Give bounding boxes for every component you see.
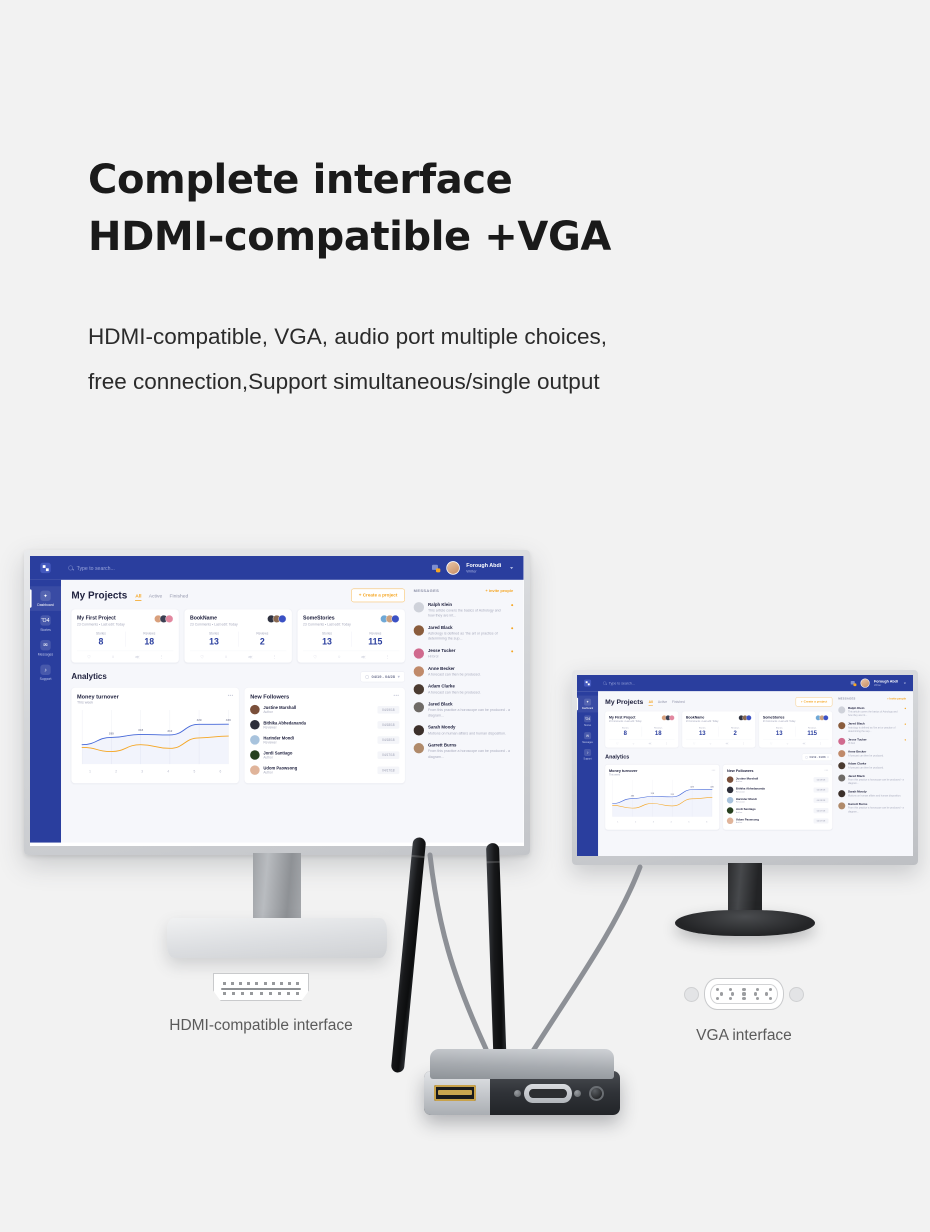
sidebar-item-label: Messages	[582, 740, 593, 743]
message-row[interactable]: Jared Black From this practice a horosco…	[414, 699, 514, 722]
message-preview: From this practice a horoscope can be pr…	[848, 778, 906, 785]
message-sender: Garrett Burns	[848, 802, 906, 805]
avatar	[414, 702, 424, 712]
date-range-value: 04/19 - 04/28	[371, 675, 394, 679]
message-preview: Motions on human affairs and human dispo…	[428, 731, 513, 736]
message-preview: This article covers the basics of Astrol…	[848, 710, 902, 717]
heart-icon[interactable]: ♡	[763, 742, 779, 746]
message-sender: Ralph Klein	[848, 706, 902, 709]
message-row[interactable]: Jared Black From this practice a horosco…	[838, 772, 906, 788]
adapter-audio-port	[589, 1086, 604, 1101]
sidebar-item-label: Messages	[38, 652, 53, 656]
project-card[interactable]: BookName 23 Comments • Last edit: Today …	[682, 711, 755, 747]
sidebar-item-dashboard[interactable]: ✦ Dashboard	[577, 696, 598, 713]
new-followers-panel: ••• New Followers Justine Marshall Autho…	[723, 765, 832, 830]
app-logo-icon[interactable]	[584, 680, 591, 687]
avatar	[391, 615, 399, 623]
message-preview: Hi bro!	[428, 654, 507, 659]
hdmi-divider-bar	[221, 988, 301, 990]
message-sender: Sarah Moody	[848, 790, 906, 793]
follower-role: Author	[263, 771, 297, 775]
sidebar-item-support[interactable]: ♪ Support	[30, 660, 61, 685]
follower-row[interactable]: Jordi Santiago Author 04/17/18	[250, 747, 399, 762]
document-icon: Ὄ4	[584, 715, 591, 722]
stat-label: Stories	[77, 632, 125, 636]
envelope-icon: ✉	[40, 640, 50, 650]
message-row[interactable]: Jared Black Astrology is defined as 'the…	[414, 622, 514, 645]
followers-title: New Followers	[727, 768, 829, 772]
project-meta: 23 Comments • Last edit: Today	[763, 720, 796, 723]
avatar	[414, 743, 424, 753]
project-meta: 23 Comments • Last edit: Today	[77, 622, 125, 626]
follower-role: Reviewer	[263, 740, 294, 744]
app-logo-icon[interactable]	[40, 563, 50, 573]
chart-title: Money turnover	[77, 693, 234, 699]
message-row[interactable]: Jesse Tucker Hi bro!	[838, 735, 906, 747]
message-preview: From this practice a horoscope can be pr…	[848, 806, 906, 813]
project-stat: Stories 13	[303, 632, 351, 647]
follower-date: 04/17/18	[377, 766, 399, 774]
subcopy-line-1: HDMI-compatible, VGA, audio port multipl…	[88, 315, 607, 360]
chart-point-label: 430	[710, 785, 713, 787]
sidebar-item-label: Stories	[40, 627, 51, 631]
project-stat: Reviews 115	[351, 632, 399, 647]
follower-row[interactable]: Bithika Abhedananda Reviewer 04/18/18	[727, 785, 829, 795]
avatar	[165, 615, 173, 623]
message-sender: Jared Black	[428, 702, 513, 707]
date-range-picker[interactable]: 04/19 - 04/28 ▾	[360, 671, 405, 682]
avatar	[250, 720, 260, 730]
messages-panel: MESSAGES + Invite people Ralph Klein Thi…	[838, 697, 906, 856]
project-name: BookName	[686, 715, 719, 719]
unread-badge	[905, 739, 906, 740]
project-name: SomeStories	[763, 715, 796, 719]
comment-icon[interactable]: ○	[214, 654, 238, 659]
x-tick-label: 5	[193, 770, 195, 774]
stat-label: Reviews	[719, 726, 752, 728]
vga-callout: VGA interface	[655, 977, 833, 1045]
follower-date: 04/18/18	[814, 798, 829, 803]
stat-value: 115	[796, 730, 829, 737]
stat-value: 115	[351, 636, 399, 646]
adapter-hdmi-port	[434, 1085, 476, 1101]
search-icon	[603, 682, 606, 685]
follower-date: 04/17/18	[814, 818, 829, 823]
user-role: Writer	[874, 684, 898, 687]
page-title: My Projects	[605, 698, 643, 706]
invite-people-button[interactable]: + Invite people	[485, 589, 513, 593]
follower-row[interactable]: Jordi Santiago Author 04/17/18	[727, 805, 829, 815]
stat-value: 8	[609, 730, 642, 737]
follower-date: 04/18/18	[377, 736, 399, 744]
share-icon[interactable]: ≪	[125, 654, 149, 659]
chart-point-label: 318	[651, 792, 654, 794]
project-meta: 23 Comments • Last edit: Today	[686, 720, 719, 723]
message-preview: This article covers the basics of Astrol…	[428, 608, 507, 618]
chart-point-label: 285	[631, 794, 634, 796]
more-icon[interactable]: ⋮	[262, 654, 286, 659]
message-row[interactable]: Anne Becker A forecast can then be produ…	[838, 748, 906, 760]
headline-line-2: HDMI-compatible +VGA	[88, 209, 611, 266]
avatar	[727, 787, 734, 794]
search-input[interactable]: Type to search...	[603, 681, 635, 685]
vga-screw-left	[514, 1090, 521, 1097]
dashboard-sidebar: ✦ Dashboard Ὄ4 Stories ✉ Messages ♪ Supp…	[30, 580, 61, 843]
more-icon[interactable]: ⋮	[735, 742, 751, 746]
envelope-icon: ✉	[584, 732, 591, 739]
sidebar-item-support[interactable]: ♪ Support	[577, 746, 598, 763]
tab-all[interactable]: All	[649, 700, 653, 705]
project-stat: Stories 13	[190, 632, 238, 647]
monitor-base	[167, 918, 387, 958]
create-project-button[interactable]: + Create a project	[796, 697, 833, 706]
search-input[interactable]: Type to search...	[68, 565, 115, 571]
more-icon[interactable]: •••	[712, 768, 716, 771]
message-row[interactable]: Jesse Tucker Hi bro!	[414, 645, 514, 663]
heart-icon[interactable]: ♡	[686, 742, 702, 746]
message-row[interactable]: Garrett Burns From this practice a horos…	[414, 740, 514, 763]
project-stat: Stories 13	[686, 726, 719, 736]
notifications-icon[interactable]	[851, 680, 856, 685]
message-preview: From this practice a horoscope can be pr…	[428, 749, 513, 759]
message-sender: Sarah Moody	[428, 725, 513, 730]
vga-pin-row-1	[716, 988, 772, 991]
avatar	[414, 725, 424, 735]
avatar	[414, 666, 424, 676]
invite-people-button[interactable]: + Invite people	[887, 697, 906, 700]
chart-point-label: 429	[197, 718, 202, 722]
project-tabs: AllActiveFinished	[649, 700, 685, 705]
comment-icon[interactable]: ○	[779, 742, 795, 746]
headset-icon: ♪	[40, 664, 50, 674]
money-turnover-chart: ••• Money turnover This week 28531831242…	[71, 688, 239, 784]
subcopy-block: HDMI-compatible, VGA, audio port multipl…	[88, 315, 607, 404]
sidebar-item-dashboard[interactable]: ✦ Dashboard	[30, 586, 61, 611]
monitor-neck	[253, 853, 301, 925]
message-preview: A forecast can then be produced.	[428, 672, 513, 677]
message-row[interactable]: Adam Clarke A forecast can then be produ…	[838, 760, 906, 772]
money-turnover-chart: ••• Money turnover This week 28531831242…	[605, 765, 719, 830]
hdmi-callout-label: HDMI-compatible interface	[136, 1017, 386, 1035]
more-icon[interactable]: ⋮	[149, 654, 173, 659]
follower-row[interactable]: Udom Paowsong Author 04/17/18	[250, 763, 399, 778]
sidebar-item-messages[interactable]: ✉ Messages	[577, 729, 598, 746]
stat-label: Reviews	[238, 632, 286, 636]
follower-row[interactable]: Justine Marshall Author 04/19/18	[250, 702, 399, 717]
headline-line-1: Complete interface	[88, 152, 611, 209]
message-row[interactable]: Garrett Burns From this practice a horos…	[838, 800, 906, 816]
sidebar-item-label: Support	[40, 677, 52, 681]
avatar	[746, 715, 751, 720]
vga-screw-post-right	[789, 987, 804, 1002]
project-card[interactable]: My First Project 23 Comments • Last edit…	[605, 711, 678, 747]
search-icon	[68, 566, 73, 571]
hdmi-pin-row-bottom	[223, 992, 299, 995]
more-icon[interactable]: ⋮	[812, 742, 828, 746]
tab-active[interactable]: Active	[149, 593, 163, 601]
unread-badge	[905, 708, 906, 709]
project-stat: Reviews 18	[125, 632, 173, 647]
x-tick-label: 3	[141, 770, 143, 774]
share-icon[interactable]: ≪	[796, 742, 812, 746]
share-icon[interactable]: ≪	[642, 742, 658, 746]
follower-role: Author	[263, 756, 292, 760]
chart-title: Money turnover	[609, 768, 716, 772]
avatar	[838, 775, 845, 782]
follower-row[interactable]: Bithika Abhedananda Reviewer 04/18/18	[250, 717, 399, 732]
headset-icon: ♪	[584, 749, 591, 756]
create-project-button[interactable]: + Create a project	[351, 589, 405, 603]
follower-row[interactable]: Justine Marshall Author 04/19/18	[727, 774, 829, 784]
chart-x-axis: 123456	[77, 770, 234, 774]
message-sender: Jared Black	[848, 722, 902, 725]
follower-row[interactable]: Harinder Mondi Reviewer 04/18/18	[727, 795, 829, 805]
avatar	[838, 802, 845, 809]
vga-pin-row-2	[716, 992, 772, 995]
message-preview: Hi bro!	[848, 742, 902, 746]
message-sender: Jared Black	[428, 625, 507, 630]
stat-value: 13	[763, 730, 796, 737]
avatar[interactable]	[860, 679, 869, 688]
chart-point-label: 312	[671, 793, 674, 795]
sidebar-item-stories[interactable]: Ὄ4 Stories	[30, 611, 61, 636]
avatar	[250, 705, 260, 715]
x-tick-label: 3	[653, 821, 654, 823]
antenna-left	[391, 837, 427, 1073]
tab-finished[interactable]: Finished	[169, 593, 188, 601]
message-row[interactable]: Jared Black Astrology is defined as 'the…	[838, 720, 906, 736]
x-tick-label: 1	[617, 821, 618, 823]
share-icon[interactable]: ≪	[719, 742, 735, 746]
message-row[interactable]: Anne Becker A forecast can then be produ…	[414, 663, 514, 681]
x-tick-label: 6	[706, 821, 707, 823]
hdmi-callout: HDMI-compatible interface	[136, 973, 386, 1035]
vga-pin-row-3	[716, 997, 772, 1000]
message-row[interactable]: Sarah Moody Motions on human affairs and…	[838, 788, 906, 800]
avatar	[250, 765, 260, 775]
avatar	[414, 602, 424, 612]
tab-all[interactable]: All	[135, 593, 141, 601]
chart-point-label: 430	[226, 718, 231, 722]
antenna-right	[486, 843, 507, 1075]
analytics-title: Analytics 04/19 - 04/28 ▾	[605, 754, 832, 761]
follower-role: Author	[263, 710, 296, 714]
tab-finished[interactable]: Finished	[672, 700, 685, 705]
more-icon[interactable]: •••	[825, 768, 829, 771]
monitor-base	[675, 910, 815, 936]
message-preview: From this practice a horoscope can be pr…	[428, 708, 513, 718]
message-sender: Jared Black	[848, 775, 906, 778]
dashboard-topbar: Type to search... Forough Abdi Writer	[30, 556, 524, 580]
message-row[interactable]: Ralph Klein This article covers the basi…	[414, 599, 514, 622]
hdmi-pin-row-top	[223, 982, 299, 985]
share-icon[interactable]: ≪	[238, 654, 262, 659]
sidebar-item-messages[interactable]: ✉ Messages	[30, 636, 61, 661]
avatar	[727, 776, 734, 783]
x-tick-label: 2	[635, 821, 636, 823]
avatar	[414, 684, 424, 694]
avatar	[838, 722, 845, 729]
project-name: My First Project	[77, 615, 125, 621]
avatar	[823, 715, 828, 720]
stat-value: 8	[77, 636, 125, 646]
follower-date: 04/19/18	[377, 706, 399, 714]
avatar	[727, 797, 734, 804]
vga-screw-post-left	[684, 987, 699, 1002]
avatar	[838, 790, 845, 797]
chevron-down-icon: ▾	[398, 675, 400, 679]
chart-point-label: 318	[138, 728, 143, 732]
chart-subtitle: This week	[77, 700, 234, 704]
heart-icon[interactable]: ♡	[609, 742, 625, 746]
avatar	[838, 762, 845, 769]
project-name: My First Project	[609, 715, 642, 719]
follower-role: Author	[736, 811, 756, 813]
message-sender: Garrett Burns	[428, 743, 513, 748]
message-row[interactable]: Sarah Moody Motions on human affairs and…	[414, 722, 514, 740]
follower-role: Reviewer	[736, 801, 757, 803]
subcopy-line-2: free connection,Support simultaneous/sin…	[88, 360, 607, 405]
message-preview: Astrology is defined as 'the art or prac…	[428, 631, 507, 641]
chevron-down-icon[interactable]	[510, 567, 513, 569]
follower-date: 04/17/18	[814, 808, 829, 813]
user-role: Writer	[466, 569, 501, 573]
stat-value: 18	[642, 730, 675, 737]
avatar	[414, 648, 424, 658]
chevron-down-icon[interactable]	[904, 682, 906, 683]
project-card-list: My First Project 23 Comments • Last edit…	[605, 711, 832, 747]
sidebar-item-stories[interactable]: Ὄ4 Stories	[577, 712, 598, 729]
user-name: Forough Abdi	[466, 562, 501, 569]
date-range-value: 04/19 - 04/28	[810, 756, 826, 759]
message-sender: Ralph Klein	[428, 602, 507, 607]
sidebar-item-label: Support	[584, 757, 592, 760]
avatar[interactable]	[446, 561, 460, 575]
project-card[interactable]: BookName 23 Comments • Last edit: Today …	[184, 609, 291, 662]
x-tick-label: 2	[115, 770, 117, 774]
heart-icon[interactable]: ♡	[77, 654, 101, 659]
more-icon[interactable]: •••	[228, 693, 234, 698]
unread-badge	[905, 724, 906, 725]
dashboard-ui: Type to search... Forough Abdi Writer ✦ …	[577, 675, 913, 856]
project-stat: Reviews 2	[719, 726, 752, 736]
project-avatars	[817, 715, 828, 720]
stat-value: 18	[125, 636, 173, 646]
follower-role: Reviewer	[263, 725, 306, 729]
heart-icon[interactable]: ♡	[303, 654, 327, 659]
chart-x-axis: 123456	[609, 821, 716, 823]
monitor-screen: Type to search... Forough Abdi Writer ✦ …	[30, 556, 524, 846]
wireless-display-adapter	[424, 1049, 620, 1115]
document-icon: Ὄ4	[40, 615, 50, 625]
dashboard-ui: Type to search... Forough Abdi Writer ✦ …	[30, 556, 524, 843]
project-stat: Reviews 2	[238, 632, 286, 647]
message-row[interactable]: Ralph Klein This article covers the basi…	[838, 704, 906, 720]
tab-active[interactable]: Active	[658, 700, 667, 705]
sidebar-item-label: Dashboard	[582, 707, 593, 710]
project-card[interactable]: My First Project 23 Comments • Last edit…	[71, 609, 178, 662]
product-scene: Type to search... Forough Abdi Writer ✦ …	[0, 455, 930, 1232]
follower-row[interactable]: Harinder Mondi Reviewer 04/18/18	[250, 732, 399, 747]
comment-icon[interactable]: ○	[702, 742, 718, 746]
follower-role: Author	[736, 821, 759, 823]
avatar	[669, 715, 674, 720]
vga-screw-right	[574, 1090, 581, 1097]
message-sender: Anne Becker	[428, 666, 513, 671]
adapter-vga-port	[524, 1084, 572, 1103]
project-stat: Stories 13	[763, 726, 796, 736]
message-preview: Astrology is defined as 'the art or prac…	[848, 726, 902, 733]
project-avatars	[383, 615, 400, 623]
chart-point-label: 429	[690, 786, 693, 788]
message-preview: A forecast can then be produced.	[848, 754, 906, 758]
stat-value: 2	[719, 730, 752, 737]
follower-date: 04/19/18	[814, 777, 829, 782]
secondary-monitor: Type to search... Forough Abdi Writer ✦ …	[572, 670, 918, 865]
project-card[interactable]: SomeStories 23 Comments • Last edit: Tod…	[759, 711, 832, 747]
avatar	[250, 750, 260, 760]
stat-label: Stories	[190, 632, 238, 636]
avatar	[838, 738, 845, 745]
stat-label: Reviews	[125, 632, 173, 636]
heart-icon[interactable]: ♡	[190, 654, 214, 659]
project-stat: Stories 8	[77, 632, 125, 647]
monitor-bezel: Type to search... Forough Abdi Writer ✦ …	[572, 670, 918, 865]
analytics-title: Analytics 04/19 - 04/28 ▾	[71, 671, 405, 682]
project-tabs: AllActiveFinished	[135, 593, 188, 601]
stat-value: 13	[190, 636, 238, 646]
follower-row[interactable]: Udom Paowsong Author 04/17/18	[727, 816, 829, 826]
date-range-picker[interactable]: 04/19 - 04/28 ▾	[802, 754, 832, 761]
calendar-icon	[366, 675, 369, 678]
project-avatars	[740, 715, 751, 720]
message-row[interactable]: Adam Clarke A forecast can then be produ…	[414, 681, 514, 699]
more-icon[interactable]: ⋮	[658, 742, 674, 746]
vga-connector-icon	[680, 977, 808, 1011]
message-sender: Adam Clarke	[428, 684, 513, 689]
stat-label: Stories	[763, 726, 796, 728]
comment-icon[interactable]: ○	[101, 654, 125, 659]
stat-label: Reviews	[796, 726, 829, 728]
avatar	[838, 750, 845, 757]
project-avatars	[663, 715, 674, 720]
notifications-icon[interactable]	[432, 564, 440, 572]
share-icon[interactable]: ≪	[351, 654, 375, 659]
chart-plot-area: 285318312429430	[609, 779, 716, 820]
comment-icon[interactable]: ○	[625, 742, 641, 746]
followers-title: New Followers	[250, 693, 399, 699]
follower-role: Reviewer	[736, 790, 765, 792]
project-card[interactable]: SomeStories 23 Comments • Last edit: Tod…	[297, 609, 404, 662]
project-meta: 23 Comments • Last edit: Today	[303, 622, 351, 626]
monitor-screen: Type to search... Forough Abdi Writer ✦ …	[577, 675, 913, 856]
unread-badge	[511, 650, 513, 652]
adapter-top-shell	[430, 1049, 614, 1079]
chevron-down-icon: ▾	[827, 756, 828, 759]
x-tick-label: 4	[167, 770, 169, 774]
message-preview: A forecast can then be produced.	[848, 766, 906, 770]
chart-point-label: 285	[109, 731, 114, 735]
project-card-list: My First Project 23 Comments • Last edit…	[71, 609, 405, 662]
more-icon[interactable]: •••	[394, 693, 400, 698]
search-placeholder: Type to search...	[609, 681, 635, 685]
more-icon[interactable]: ⋮	[375, 654, 399, 659]
avatar	[727, 807, 734, 814]
sidebar-item-label: Stories	[584, 724, 591, 727]
sparkle-icon: ✦	[584, 698, 591, 705]
comment-icon[interactable]: ○	[327, 654, 351, 659]
project-name: SomeStories	[303, 615, 351, 621]
